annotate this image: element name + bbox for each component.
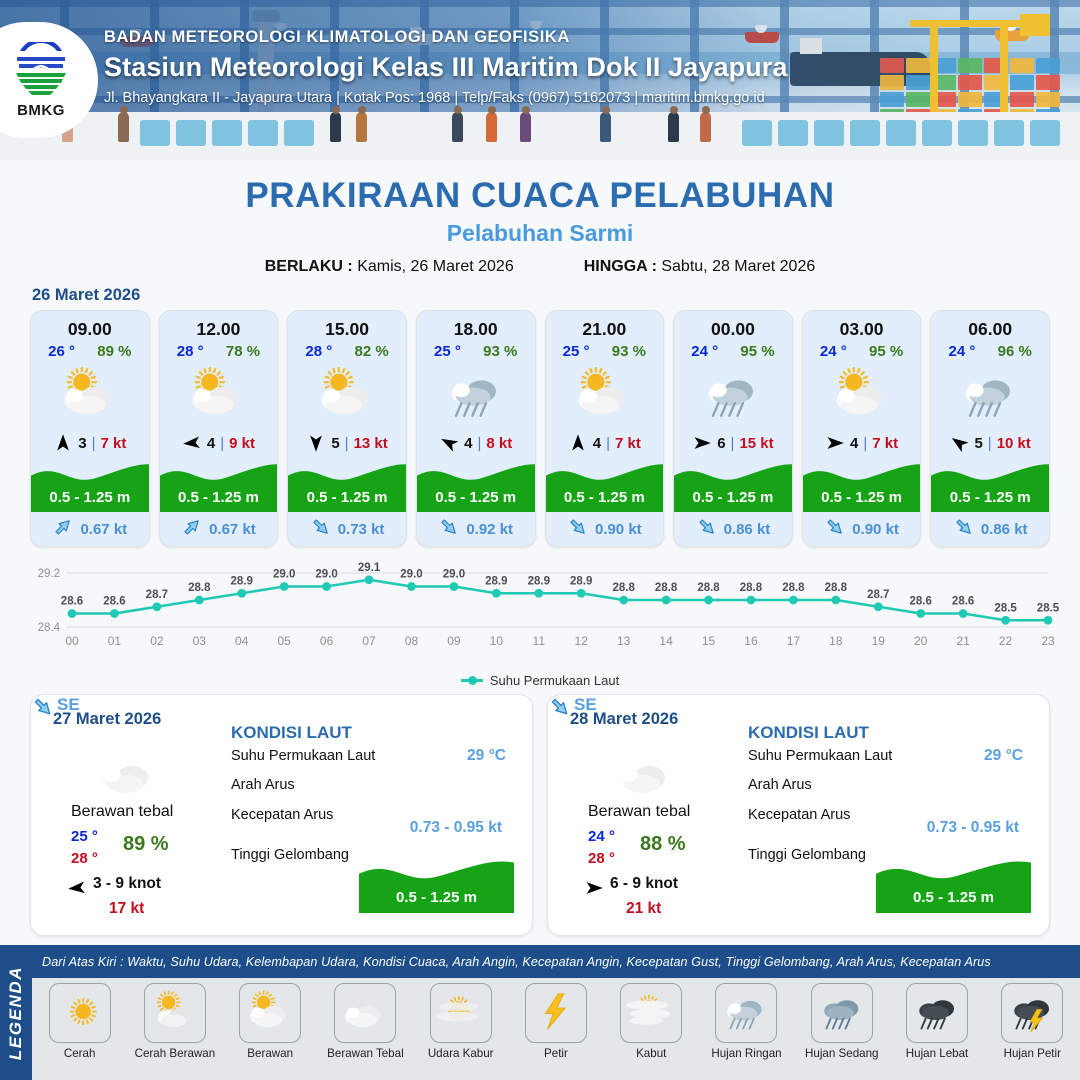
card-time: 00.00 xyxy=(674,311,792,340)
card-current-row: 0.73 kt xyxy=(288,512,406,546)
wind-direction-arrow-icon xyxy=(692,433,712,453)
panel-date: 27 Maret 2026 xyxy=(53,710,161,729)
svg-text:29.2: 29.2 xyxy=(38,568,60,580)
panel-section-title: KONDISI LAUT xyxy=(748,723,869,743)
partly-cloudy-icon xyxy=(288,362,406,426)
svg-text:18: 18 xyxy=(829,634,843,648)
card-temperature: 25 ° xyxy=(563,343,590,360)
card-gust: 13 kt xyxy=(354,435,388,452)
card-wave-band: 0.5 - 1.25 m xyxy=(803,460,921,512)
legend-footer: LEGENDA Dari Atas Kiri : Waktu, Suhu Uda… xyxy=(0,945,1080,1080)
card-gust: 10 kt xyxy=(997,435,1031,452)
svg-text:28.8: 28.8 xyxy=(782,582,805,594)
legend-item-label: Hujan Ringan xyxy=(711,1047,781,1060)
card-temp-humidity-row: 28 ° 78 % xyxy=(160,340,278,360)
wind-direction-arrow-icon xyxy=(439,433,459,453)
svg-text:28.5: 28.5 xyxy=(994,602,1017,614)
card-current-row: 0.92 kt xyxy=(417,512,535,546)
svg-text:09: 09 xyxy=(447,634,461,648)
panel-current-direction-label: Arah Arus xyxy=(231,777,295,793)
card-temperature: 24 ° xyxy=(949,343,976,360)
partly-cloudy-icon xyxy=(160,362,278,426)
card-wave-height: 0.5 - 1.25 m xyxy=(31,489,149,506)
card-current-row: 0.67 kt xyxy=(160,512,278,546)
card-temperature: 28 ° xyxy=(177,343,204,360)
panel-current-speed-label: Kecepatan Arus xyxy=(231,807,333,823)
card-current-speed: 0.73 kt xyxy=(338,521,385,538)
card-temperature: 25 ° xyxy=(434,343,461,360)
svg-text:05: 05 xyxy=(277,634,291,648)
panel-humidity: 89 % xyxy=(123,833,169,856)
svg-text:07: 07 xyxy=(362,634,376,648)
current-direction-arrow-icon xyxy=(438,516,460,543)
card-current-speed: 0.86 kt xyxy=(724,521,771,538)
card-time: 03.00 xyxy=(803,311,921,340)
svg-text:22: 22 xyxy=(999,634,1013,648)
panel-wave-label: Tinggi Gelombang xyxy=(748,847,866,863)
svg-text:15: 15 xyxy=(702,634,716,648)
card-wind-row: 6 | 15 kt xyxy=(674,428,792,458)
card-wave-band: 0.5 - 1.25 m xyxy=(674,460,792,512)
card-humidity: 89 % xyxy=(97,343,131,360)
current-direction-arrow-icon xyxy=(52,516,74,543)
light-rain-icon xyxy=(931,362,1049,426)
heavy-rain-icon xyxy=(906,983,968,1043)
card-current-row: 0.90 kt xyxy=(803,512,921,546)
chart-legend: Suhu Permukaan Laut xyxy=(0,673,1080,688)
card-temp-humidity-row: 25 ° 93 % xyxy=(417,340,535,360)
bmkg-logo-mark xyxy=(10,42,72,100)
legend-item: Cerah Berawan xyxy=(127,978,222,1060)
legend-items: Cerah Cerah Berawan Berawan Berawan Teba… xyxy=(32,978,1080,1060)
forecast-card: 00.00 24 ° 95 % 6 | 15 kt 0.5 - 1.25 m 0… xyxy=(673,310,793,547)
current-direction-arrow-icon xyxy=(310,516,332,543)
valid-until-value: Sabtu, 28 Maret 2026 xyxy=(661,258,815,275)
panel-sst-label: Suhu Permukaan Laut xyxy=(231,748,375,764)
card-temperature: 24 ° xyxy=(820,343,847,360)
card-wind-row: 3 | 7 kt xyxy=(31,428,149,458)
card-wind-speed: 5 xyxy=(974,435,982,452)
partly-cloudy-icon xyxy=(803,362,921,426)
card-gust: 7 kt xyxy=(872,435,898,452)
card-separator: | xyxy=(477,435,481,452)
daily-panel: 27 Maret 2026 Berawan tebal 25 ° 28 ° 89… xyxy=(30,694,533,936)
page-header: BMKG BADAN METEOROLOGI KLIMATOLOGI DAN G… xyxy=(0,0,1080,160)
sunny-icon xyxy=(49,983,111,1043)
panel-gust: 21 kt xyxy=(626,900,661,918)
svg-text:28.9: 28.9 xyxy=(485,575,507,587)
svg-text:28.9: 28.9 xyxy=(570,575,592,587)
card-temperature: 24 ° xyxy=(691,343,718,360)
legend-item-label: Berawan Tebal xyxy=(327,1047,404,1060)
current-direction-arrow-icon xyxy=(31,695,53,715)
svg-text:00: 00 xyxy=(65,634,79,648)
svg-text:01: 01 xyxy=(108,634,122,648)
page-subtitle: Pelabuhan Sarmi xyxy=(0,220,1080,247)
fog-icon xyxy=(620,983,682,1043)
light-rain-icon xyxy=(417,362,535,426)
valid-from-label: BERLAKU : xyxy=(265,258,353,275)
svg-text:16: 16 xyxy=(744,634,758,648)
current-direction-arrow-icon xyxy=(953,516,975,543)
card-separator: | xyxy=(345,435,349,452)
card-wind-speed: 6 xyxy=(717,435,725,452)
chart-legend-label: Suhu Permukaan Laut xyxy=(490,673,619,688)
card-wind-speed: 4 xyxy=(593,435,601,452)
svg-text:28.8: 28.8 xyxy=(612,582,635,594)
card-current-row: 0.86 kt xyxy=(931,512,1049,546)
panel-current-direction-label: Arah Arus xyxy=(748,777,812,793)
panel-wave-band: 0.5 - 1.25 m xyxy=(876,857,1031,913)
card-temp-humidity-row: 26 ° 89 % xyxy=(31,340,149,360)
card-humidity: 96 % xyxy=(998,343,1032,360)
card-time: 06.00 xyxy=(931,311,1049,340)
card-separator: | xyxy=(606,435,610,452)
card-separator: | xyxy=(92,435,96,452)
current-direction-arrow-icon xyxy=(548,695,570,715)
card-gust: 7 kt xyxy=(101,435,127,452)
legend-side-bar: LEGENDA xyxy=(0,945,32,1080)
svg-text:28.5: 28.5 xyxy=(1037,602,1060,614)
svg-text:28.8: 28.8 xyxy=(697,582,720,594)
current-direction-arrow-icon xyxy=(696,516,718,543)
panel-wave-value: 0.5 - 1.25 m xyxy=(359,889,514,906)
legend-item-label: Cerah Berawan xyxy=(135,1047,216,1060)
svg-text:29.0: 29.0 xyxy=(400,569,422,581)
svg-text:17: 17 xyxy=(787,634,801,648)
legend-item: Berawan Tebal xyxy=(318,978,413,1060)
legend-item: Berawan xyxy=(223,978,318,1060)
legend-note: Dari Atas Kiri : Waktu, Suhu Udara, Kele… xyxy=(32,945,1080,978)
card-current-speed: 0.67 kt xyxy=(209,521,256,538)
svg-text:29.0: 29.0 xyxy=(443,569,465,581)
forecast-card: 03.00 24 ° 95 % 4 | 7 kt 0.5 - 1.25 m 0.… xyxy=(802,310,922,547)
card-temp-humidity-row: 24 ° 95 % xyxy=(674,340,792,360)
overcast-icon xyxy=(89,743,167,808)
forecast-day-label: 26 Maret 2026 xyxy=(32,286,1080,305)
card-time: 12.00 xyxy=(160,311,278,340)
card-temp-humidity-row: 28 ° 82 % xyxy=(288,340,406,360)
card-gust: 8 kt xyxy=(486,435,512,452)
svg-text:02: 02 xyxy=(150,634,164,648)
forecast-card: 21.00 25 ° 93 % 4 | 7 kt 0.5 - 1.25 m 0.… xyxy=(545,310,665,547)
panel-sst-value: 29 °C xyxy=(984,747,1023,765)
forecast-card: 15.00 28 ° 82 % 5 | 13 kt 0.5 - 1.25 m 0… xyxy=(287,310,407,547)
card-gust: 15 kt xyxy=(739,435,773,452)
panel-temp-max: 28 ° xyxy=(71,850,98,867)
current-direction-arrow-icon xyxy=(181,516,203,543)
svg-text:21: 21 xyxy=(956,634,970,648)
sst-chart-svg: 28.429.228.60028.60128.70228.80328.90429… xyxy=(20,561,1060,669)
card-wind-row: 5 | 13 kt xyxy=(288,428,406,458)
chart-legend-marker xyxy=(461,679,483,682)
svg-text:29.1: 29.1 xyxy=(358,562,381,574)
svg-text:10: 10 xyxy=(490,634,504,648)
legend-item: Petir xyxy=(508,978,603,1060)
valid-from: BERLAKU : Kamis, 26 Maret 2026 xyxy=(265,258,514,276)
svg-text:28.8: 28.8 xyxy=(740,582,763,594)
light-rain-icon xyxy=(715,983,777,1043)
sunny-cloudy-icon xyxy=(144,983,206,1043)
legend-item-label: Hujan Sedang xyxy=(805,1047,879,1060)
haze-icon xyxy=(430,983,492,1043)
daily-panel: 28 Maret 2026 Berawan tebal 24 ° 28 ° 88… xyxy=(547,694,1050,936)
card-humidity: 95 % xyxy=(869,343,903,360)
legend-item-label: Cerah xyxy=(64,1047,96,1060)
station-address: Jl. Bhayangkara II - Jayapura Utara | Ko… xyxy=(104,90,787,106)
svg-text:20: 20 xyxy=(914,634,928,648)
svg-text:28.6: 28.6 xyxy=(952,596,974,608)
moderate-rain-icon xyxy=(811,983,873,1043)
header-text-block: BADAN METEOROLOGI KLIMATOLOGI DAN GEOFIS… xyxy=(104,28,787,106)
svg-text:14: 14 xyxy=(659,634,673,648)
card-current-row: 0.90 kt xyxy=(546,512,664,546)
card-temp-humidity-row: 25 ° 93 % xyxy=(546,340,664,360)
svg-text:23: 23 xyxy=(1041,634,1055,648)
panel-temp-min: 25 ° xyxy=(71,828,98,845)
legend-item-label: Hujan Lebat xyxy=(906,1047,969,1060)
panel-condition: Berawan tebal xyxy=(71,803,173,821)
card-wind-row: 4 | 7 kt xyxy=(546,428,664,458)
partly-cloudy-icon xyxy=(546,362,664,426)
station-name: Stasiun Meteorologi Kelas III Maritim Do… xyxy=(104,52,787,83)
card-current-row: 0.67 kt xyxy=(31,512,149,546)
card-separator: | xyxy=(988,435,992,452)
forecast-card: 09.00 26 ° 89 % 3 | 7 kt 0.5 - 1.25 m 0.… xyxy=(30,310,150,547)
card-humidity: 95 % xyxy=(740,343,774,360)
svg-text:19: 19 xyxy=(872,634,886,648)
legend-item-label: Hujan Petir xyxy=(1004,1047,1061,1060)
valid-from-value: Kamis, 26 Maret 2026 xyxy=(357,258,514,275)
card-wave-band: 0.5 - 1.25 m xyxy=(417,460,535,512)
card-current-speed: 0.90 kt xyxy=(852,521,899,538)
daily-forecast-panels: 27 Maret 2026 Berawan tebal 25 ° 28 ° 89… xyxy=(0,688,1080,936)
card-humidity: 93 % xyxy=(483,343,517,360)
panel-section-title: KONDISI LAUT xyxy=(231,723,352,743)
hourly-forecast-cards: 09.00 26 ° 89 % 3 | 7 kt 0.5 - 1.25 m 0.… xyxy=(0,310,1080,547)
card-wind-speed: 4 xyxy=(850,435,858,452)
legend-item-label: Petir xyxy=(544,1047,568,1060)
sst-chart: 28.429.228.60028.60128.70228.80328.90429… xyxy=(20,561,1060,671)
svg-text:28.9: 28.9 xyxy=(231,575,253,587)
current-direction-arrow-icon xyxy=(824,516,846,543)
panel-temp-min: 24 ° xyxy=(588,828,615,845)
card-current-speed: 0.90 kt xyxy=(595,521,642,538)
card-wave-band: 0.5 - 1.25 m xyxy=(31,460,149,512)
wind-direction-arrow-icon xyxy=(568,433,588,453)
card-wind-speed: 5 xyxy=(331,435,339,452)
svg-text:08: 08 xyxy=(405,634,419,648)
thunderstorm-icon xyxy=(1001,983,1063,1043)
overcast-icon xyxy=(334,983,396,1043)
card-humidity: 93 % xyxy=(612,343,646,360)
wind-direction-arrow-icon xyxy=(53,433,73,453)
card-time: 09.00 xyxy=(31,311,149,340)
legend-item: Hujan Petir xyxy=(985,978,1080,1060)
card-wind-speed: 4 xyxy=(207,435,215,452)
card-current-row: 0.86 kt xyxy=(674,512,792,546)
svg-text:28.8: 28.8 xyxy=(655,582,678,594)
svg-text:12: 12 xyxy=(575,634,589,648)
panel-gust: 17 kt xyxy=(109,900,144,918)
svg-text:03: 03 xyxy=(193,634,207,648)
panel-humidity: 88 % xyxy=(640,833,686,856)
wind-direction-arrow-icon xyxy=(825,433,845,453)
card-temperature: 28 ° xyxy=(305,343,332,360)
forecast-card: 18.00 25 ° 93 % 4 | 8 kt 0.5 - 1.25 m 0.… xyxy=(416,310,536,547)
card-wind-speed: 4 xyxy=(464,435,472,452)
panel-current-speed-value: 0.73 - 0.95 kt xyxy=(927,819,1019,837)
card-gust: 9 kt xyxy=(229,435,255,452)
agency-name: BADAN METEOROLOGI KLIMATOLOGI DAN GEOFIS… xyxy=(104,28,787,47)
card-wave-band: 0.5 - 1.25 m xyxy=(931,460,1049,512)
lightning-icon xyxy=(525,983,587,1043)
partly-cloudy-icon xyxy=(31,362,149,426)
card-wave-height: 0.5 - 1.25 m xyxy=(674,489,792,506)
svg-text:28.7: 28.7 xyxy=(867,589,889,601)
page-title: PRAKIRAAN CUACA PELABUHAN xyxy=(0,176,1080,216)
card-wave-height: 0.5 - 1.25 m xyxy=(803,489,921,506)
card-wave-height: 0.5 - 1.25 m xyxy=(931,489,1049,506)
panel-wind-range: 3 - 9 knot xyxy=(93,875,161,893)
legend-item: Hujan Sedang xyxy=(794,978,889,1060)
card-temp-humidity-row: 24 ° 95 % xyxy=(803,340,921,360)
svg-text:13: 13 xyxy=(617,634,631,648)
forecast-card: 06.00 24 ° 96 % 5 | 10 kt 0.5 - 1.25 m 0… xyxy=(930,310,1050,547)
svg-text:04: 04 xyxy=(235,634,249,648)
panel-sst-value: 29 °C xyxy=(467,747,506,765)
panel-wind-direction-arrow-icon xyxy=(584,878,606,896)
card-wind-row: 4 | 7 kt xyxy=(803,428,921,458)
svg-text:28.6: 28.6 xyxy=(61,596,83,608)
panel-wave-band: 0.5 - 1.25 m xyxy=(359,857,514,913)
card-wave-band: 0.5 - 1.25 m xyxy=(288,460,406,512)
legend-item: Udara Kabur xyxy=(413,978,508,1060)
wind-direction-arrow-icon xyxy=(949,433,969,453)
card-wave-height: 0.5 - 1.25 m xyxy=(160,489,278,506)
svg-text:11: 11 xyxy=(533,634,546,648)
legend-item: Hujan Lebat xyxy=(889,978,984,1060)
valid-until-label: HINGGA : xyxy=(584,258,657,275)
panel-condition: Berawan tebal xyxy=(588,803,690,821)
card-wave-height: 0.5 - 1.25 m xyxy=(417,489,535,506)
card-wind-row: 4 | 9 kt xyxy=(160,428,278,458)
card-humidity: 78 % xyxy=(226,343,260,360)
bmkg-logo-text: BMKG xyxy=(17,102,65,119)
panel-wind-range: 6 - 9 knot xyxy=(610,875,678,893)
card-separator: | xyxy=(863,435,867,452)
svg-text:28.9: 28.9 xyxy=(528,575,550,587)
card-wave-height: 0.5 - 1.25 m xyxy=(288,489,406,506)
svg-text:28.7: 28.7 xyxy=(146,589,168,601)
card-temperature: 26 ° xyxy=(48,343,75,360)
svg-text:28.6: 28.6 xyxy=(910,596,932,608)
panel-wave-label: Tinggi Gelombang xyxy=(231,847,349,863)
panel-wave-value: 0.5 - 1.25 m xyxy=(876,889,1031,906)
svg-text:06: 06 xyxy=(320,634,334,648)
legend-item-label: Udara Kabur xyxy=(428,1047,494,1060)
svg-text:29.0: 29.0 xyxy=(273,569,295,581)
card-gust: 7 kt xyxy=(615,435,641,452)
svg-text:28.8: 28.8 xyxy=(825,582,848,594)
current-direction-arrow-icon xyxy=(567,516,589,543)
card-wave-band: 0.5 - 1.25 m xyxy=(546,460,664,512)
cloudy-icon xyxy=(239,983,301,1043)
card-time: 15.00 xyxy=(288,311,406,340)
card-wave-band: 0.5 - 1.25 m xyxy=(160,460,278,512)
panel-current-speed-value: 0.73 - 0.95 kt xyxy=(410,819,502,837)
panel-temp-max: 28 ° xyxy=(588,850,615,867)
legend-item: Hujan Ringan xyxy=(699,978,794,1060)
panel-current-speed-label: Kecepatan Arus xyxy=(748,807,850,823)
overcast-icon xyxy=(606,743,684,808)
legend-item: Cerah xyxy=(32,978,127,1060)
card-humidity: 82 % xyxy=(355,343,389,360)
card-current-speed: 0.92 kt xyxy=(466,521,513,538)
card-wind-speed: 3 xyxy=(78,435,86,452)
card-current-speed: 0.86 kt xyxy=(981,521,1028,538)
valid-until: HINGGA : Sabtu, 28 Maret 2026 xyxy=(584,258,816,276)
panel-wind-direction-arrow-icon xyxy=(67,878,89,896)
legend-side-label: LEGENDA xyxy=(6,965,26,1059)
card-wind-row: 4 | 8 kt xyxy=(417,428,535,458)
svg-text:28.8: 28.8 xyxy=(188,582,211,594)
legend-item-label: Berawan xyxy=(247,1047,293,1060)
panel-date: 28 Maret 2026 xyxy=(570,710,678,729)
validity-row: BERLAKU : Kamis, 26 Maret 2026 HINGGA : … xyxy=(0,258,1080,276)
card-current-speed: 0.67 kt xyxy=(80,521,127,538)
card-temp-humidity-row: 24 ° 96 % xyxy=(931,340,1049,360)
svg-text:29.0: 29.0 xyxy=(315,569,337,581)
light-rain-icon xyxy=(674,362,792,426)
card-separator: | xyxy=(731,435,735,452)
card-wind-row: 5 | 10 kt xyxy=(931,428,1049,458)
wind-direction-arrow-icon xyxy=(182,433,202,453)
card-separator: | xyxy=(220,435,224,452)
svg-text:28.6: 28.6 xyxy=(103,596,125,608)
forecast-card: 12.00 28 ° 78 % 4 | 9 kt 0.5 - 1.25 m 0.… xyxy=(159,310,279,547)
card-wave-height: 0.5 - 1.25 m xyxy=(546,489,664,506)
legend-item-label: Kabut xyxy=(636,1047,666,1060)
legend-item: Kabut xyxy=(604,978,699,1060)
wind-direction-arrow-icon xyxy=(306,433,326,453)
panel-sst-label: Suhu Permukaan Laut xyxy=(748,748,892,764)
card-time: 21.00 xyxy=(546,311,664,340)
svg-text:28.4: 28.4 xyxy=(38,622,61,634)
card-time: 18.00 xyxy=(417,311,535,340)
